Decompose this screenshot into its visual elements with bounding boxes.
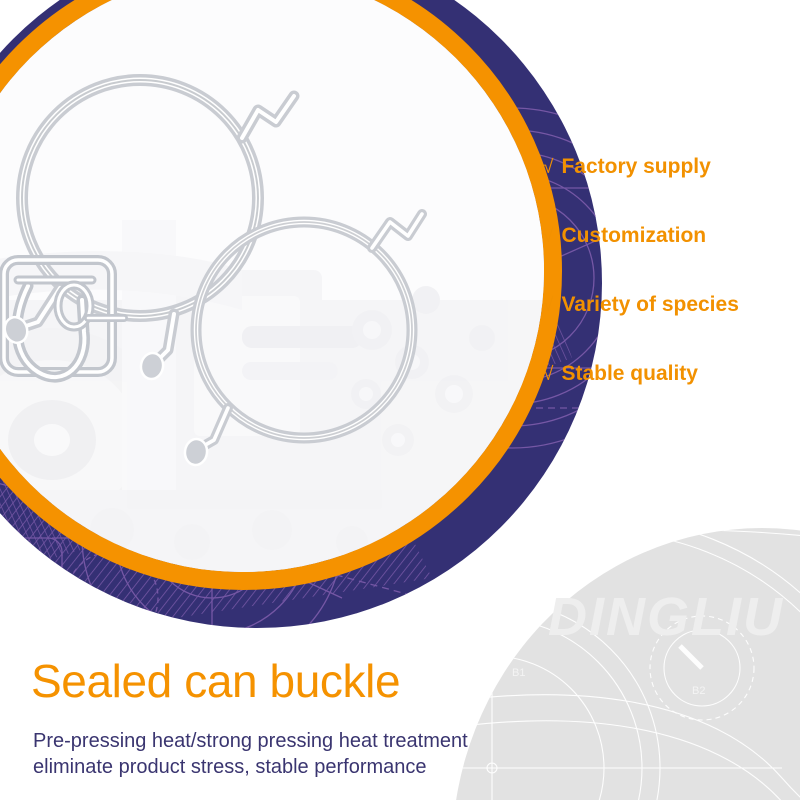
product-description: Pre-pressing heat/strong pressing heat t… — [33, 729, 468, 780]
feature-label: Stable quality — [561, 362, 698, 385]
feature-list: √ Factory supply √ Customization √ Varie… — [543, 155, 800, 431]
feature-item-variety-of-species: √ Variety of species — [543, 293, 800, 317]
feature-item-factory-supply: √ Factory supply — [543, 155, 800, 179]
check-icon: √ — [543, 296, 553, 317]
feature-item-customization: √ Customization — [543, 224, 800, 248]
product-title: Sealed can buckle — [31, 654, 400, 708]
check-icon: √ — [543, 158, 553, 179]
feature-label: Customization — [561, 224, 706, 247]
check-icon: √ — [543, 365, 553, 386]
svg-text:B1: B1 — [512, 667, 525, 679]
feature-label: Factory supply — [561, 155, 710, 178]
svg-text:B2: B2 — [692, 685, 705, 697]
feature-item-stable-quality: √ Stable quality — [543, 362, 800, 386]
product-photo — [0, 0, 544, 572]
feature-label: Variety of species — [561, 293, 738, 316]
product-banner: B1 B2 B3 K1 2 3 4 0 DINGLIU — [0, 0, 800, 800]
check-icon: √ — [543, 227, 553, 248]
